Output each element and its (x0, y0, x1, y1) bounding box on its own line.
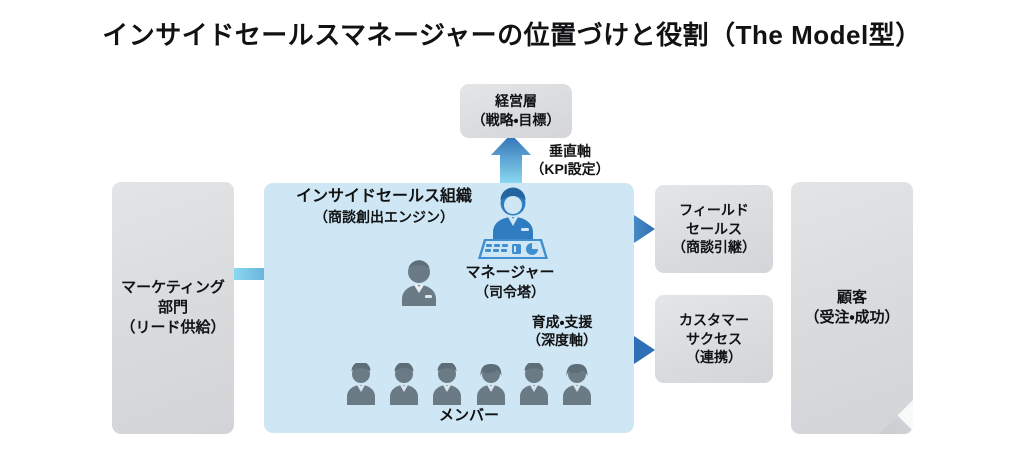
executive-box-line2: （戦略・目標） (472, 112, 561, 128)
vertical-axis-label-line1: 垂直軸 (549, 143, 591, 159)
customer-success-box[interactable]: カスタマー サクセス （連携） (655, 295, 773, 383)
depth-axis-label-line2: （深度軸） (517, 331, 607, 349)
customer-success-box-line1: カスタマー (679, 312, 749, 328)
customer-box-line1: 顧客 (837, 289, 867, 306)
executive-box-line1: 経営層 (495, 93, 537, 109)
field-sales-box-line1: フィールド (679, 202, 749, 218)
manager-label: マネージャー （司令塔） (440, 263, 580, 301)
customer-box-line2: （受注・成功） (804, 309, 899, 326)
manager-label-main: マネージャー (466, 264, 555, 281)
member-person-icon (517, 363, 551, 405)
manager-console-icon (478, 187, 548, 261)
customer-success-box-line2: サクセス (686, 331, 742, 347)
vertical-axis-label: 垂直軸 （KPI設定） (525, 142, 615, 178)
member-person-icon (560, 363, 594, 405)
member-person-icon (474, 363, 508, 405)
inside-sales-panel-title-main: インサイドセールス組織 (296, 188, 472, 205)
inside-sales-panel-subtitle: （商談創出エンジン） (264, 208, 504, 226)
customer-box[interactable]: 顧客 （受注・成功） (791, 182, 913, 434)
page-fold-corner (879, 400, 913, 434)
field-sales-box[interactable]: フィールド セールス （商談引継） (655, 185, 773, 273)
member-person-icon (430, 363, 464, 405)
member-person-icon (344, 363, 378, 405)
field-sales-box-line2: セールス (686, 221, 742, 237)
depth-axis-label: 育成・支援 （深度軸） (517, 313, 607, 349)
members-label: メンバー (344, 404, 594, 425)
marketing-box-line3: （リード供給） (120, 319, 225, 336)
marketing-box[interactable]: マーケティング 部門 （リード供給） (112, 182, 234, 434)
depth-axis-label-line1: 育成・支援 (532, 314, 593, 330)
inside-sales-panel-title: インサイドセールス組織 （商談創出エンジン） (264, 181, 504, 226)
manager-label-sub: （司令塔） (440, 283, 580, 301)
marketing-box-line1: マーケティング (121, 279, 225, 296)
member-person-icon (387, 363, 421, 405)
customer-success-box-line3: （連携） (686, 349, 742, 365)
field-sales-box-line3: （商談引継） (672, 239, 756, 255)
marketing-box-line2: 部門 (158, 299, 188, 316)
executive-box[interactable]: 経営層 （戦略・目標） (460, 84, 572, 138)
vertical-axis-label-line2: （KPI設定） (525, 160, 615, 178)
members-row (344, 357, 594, 405)
person-icon (396, 258, 442, 306)
diagram-canvas: インサイドセールスマネージャーの位置づけと役割（The Model型） (0, 0, 1024, 461)
